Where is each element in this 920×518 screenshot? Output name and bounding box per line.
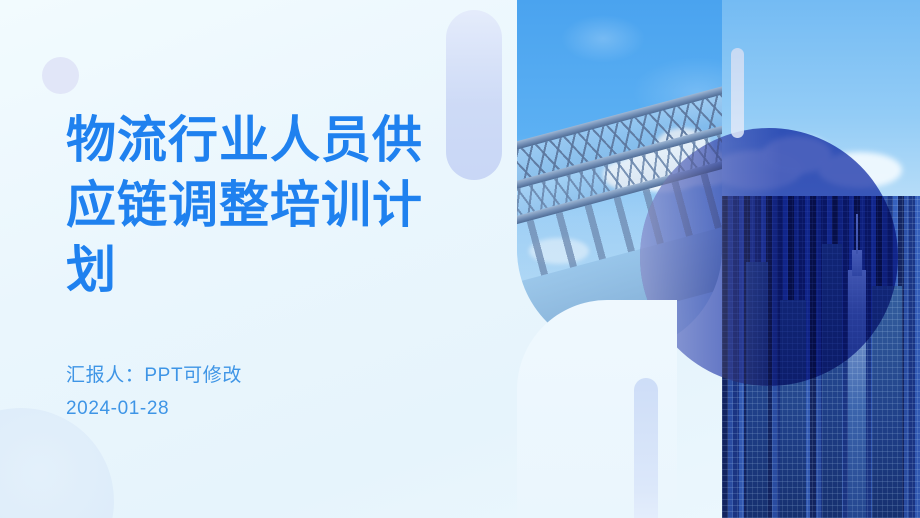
page-title: 物流行业人员供应链调整培训计划 [66, 108, 466, 303]
presenter-meta-block: 汇报人：PPT可修改 2024-01-28 [66, 360, 242, 425]
presentation-date: 2024-01-28 [66, 393, 242, 426]
title-text-block: 物流行业人员供应链调整培训计划 [66, 108, 466, 303]
white-separator-wedge [517, 300, 677, 518]
deep-blue-circle-highlight [640, 128, 898, 386]
small-lavender-circle-shape [42, 57, 79, 94]
title-slide: 物流行业人员供应链调整培训计划 汇报人：PPT可修改 2024-01-28 [0, 0, 920, 518]
presenter-label: 汇报人：PPT可修改 [66, 360, 242, 393]
